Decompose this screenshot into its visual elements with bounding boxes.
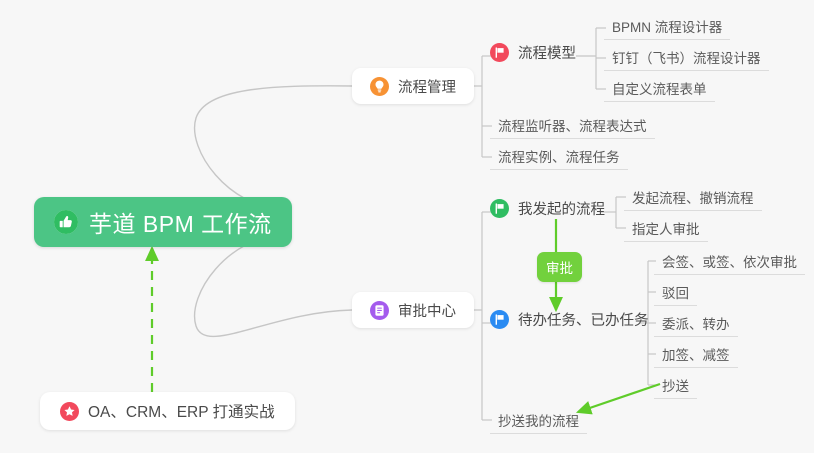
mindmap-canvas: 芋道 BPM 工作流 流程管理 流程模型 BPMN 流程设计器 钉钉（飞书）流程…: [0, 0, 814, 453]
leaf-label: 会签、或签、依次审批: [662, 251, 797, 271]
leaf-label: 发起流程、撤销流程: [632, 187, 754, 207]
branch-label: 流程管理: [398, 76, 456, 97]
leaf-label: 加签、减签: [662, 344, 730, 364]
leaf-custom-form[interactable]: 自定义流程表单: [604, 74, 715, 102]
branch-label: 审批中心: [398, 300, 456, 321]
root-node[interactable]: 芋道 BPM 工作流: [34, 197, 292, 247]
leaf-bpmn-designer[interactable]: BPMN 流程设计器: [604, 12, 730, 40]
node-my-initiated[interactable]: 我发起的流程: [490, 198, 605, 219]
leaf-start-cancel-process[interactable]: 发起流程、撤销流程: [624, 183, 762, 211]
leaf-countersign[interactable]: 会签、或签、依次审批: [654, 247, 805, 275]
leaf-process-listener[interactable]: 流程监听器、流程表达式: [490, 111, 655, 139]
leaf-label: 流程监听器、流程表达式: [498, 115, 647, 135]
flag-icon: [490, 310, 509, 329]
root-label: 芋道 BPM 工作流: [89, 205, 272, 239]
leaf-label: 自定义流程表单: [612, 78, 707, 98]
callout-label: 审批: [546, 257, 573, 277]
branch-node-process-management[interactable]: 流程管理: [352, 68, 474, 104]
node-todo-done-tasks[interactable]: 待办任务、已办任务: [490, 309, 649, 330]
footer-label: OA、CRM、ERP 打通实战: [88, 400, 275, 422]
leaf-label: 抄送: [662, 375, 689, 395]
leaf-label: BPMN 流程设计器: [612, 16, 722, 36]
node-label: 待办任务、已办任务: [518, 309, 649, 330]
thumbs-up-icon: [54, 210, 78, 234]
flag-icon: [490, 43, 509, 62]
leaf-assigned-approval[interactable]: 指定人审批: [624, 214, 708, 242]
callout-chip-approval: 审批: [537, 252, 582, 282]
leaf-reject[interactable]: 驳回: [654, 278, 697, 306]
leaf-dingtalk-designer[interactable]: 钉钉（飞书）流程设计器: [604, 43, 769, 71]
lightbulb-icon: [370, 77, 389, 96]
leaf-add-remove-sign[interactable]: 加签、减签: [654, 340, 738, 368]
leaf-cc[interactable]: 抄送: [654, 371, 697, 399]
node-process-model[interactable]: 流程模型: [490, 42, 576, 63]
node-label: 我发起的流程: [518, 198, 605, 219]
document-icon: [370, 301, 389, 320]
star-icon: [60, 402, 79, 421]
leaf-process-instance[interactable]: 流程实例、流程任务: [490, 142, 628, 170]
leaf-label: 指定人审批: [632, 218, 700, 238]
leaf-label: 流程实例、流程任务: [498, 146, 620, 166]
leaf-cc-to-me[interactable]: 抄送我的流程: [490, 406, 587, 434]
leaf-label: 驳回: [662, 282, 689, 302]
footer-node-oa-crm-erp[interactable]: OA、CRM、ERP 打通实战: [40, 392, 295, 430]
branch-node-approval-center[interactable]: 审批中心: [352, 292, 474, 328]
flag-icon: [490, 199, 509, 218]
leaf-label: 委派、转办: [662, 313, 730, 333]
leaf-label: 钉钉（飞书）流程设计器: [612, 47, 761, 67]
leaf-label: 抄送我的流程: [498, 410, 579, 430]
leaf-delegate-transfer[interactable]: 委派、转办: [654, 309, 738, 337]
node-label: 流程模型: [518, 42, 576, 63]
